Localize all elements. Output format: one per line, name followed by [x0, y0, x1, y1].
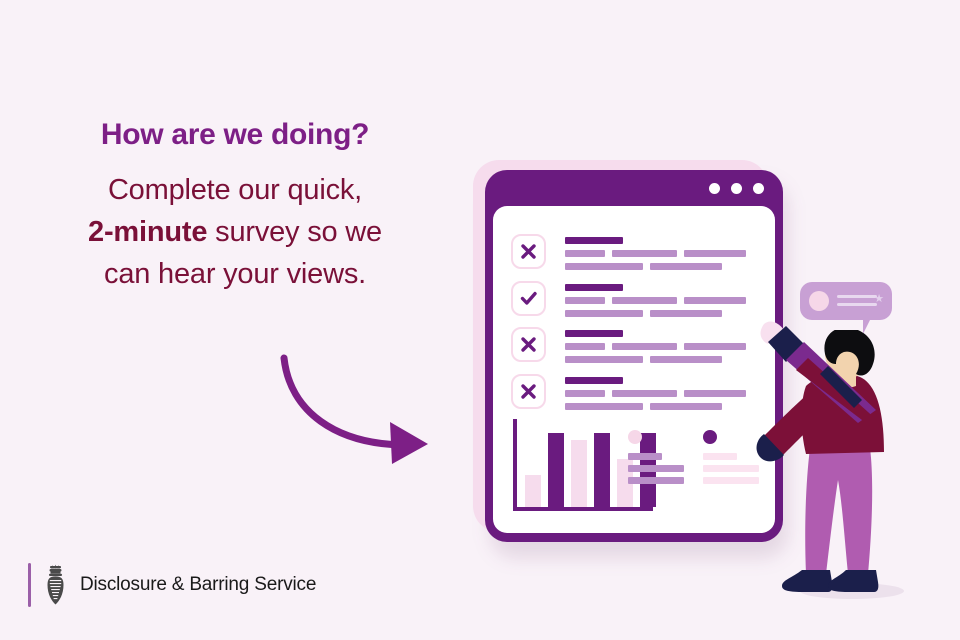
chart-legend-item [628, 430, 684, 489]
window-content [493, 206, 775, 533]
chart-y-axis [513, 419, 517, 507]
legend-dot-icon [628, 430, 642, 444]
brand-rule [28, 563, 31, 607]
legend-line [628, 477, 684, 484]
footer-branding: Disclosure & Barring Service [28, 563, 316, 607]
survey-checkbox-4[interactable] [511, 374, 546, 409]
subcopy-line-2: survey so we [207, 216, 382, 248]
speech-bubble-icon: ★ [800, 282, 892, 320]
avatar-circle-icon [809, 291, 829, 311]
survey-row[interactable] [511, 327, 767, 374]
survey-row-list [511, 234, 767, 420]
subcopy-emphasis: 2-minute [88, 216, 207, 248]
organisation-name: Disclosure & Barring Service [80, 574, 316, 596]
chart-x-axis [513, 507, 653, 511]
window-dot-1[interactable] [709, 183, 720, 194]
page-title: How are we doing? [0, 118, 470, 151]
promo-subcopy: Complete our quick, 2-minute survey so w… [0, 169, 470, 295]
chart-bar [594, 433, 610, 507]
survey-row-lines [565, 281, 767, 317]
bubble-line-2 [837, 303, 877, 306]
subcopy-line-3: can hear your views. [104, 258, 366, 290]
legend-dot-icon [703, 430, 717, 444]
chart-bar [525, 475, 541, 507]
survey-row-lines [565, 374, 767, 410]
curved-arrow-icon [262, 340, 452, 470]
bubble-line-1 [837, 295, 877, 298]
survey-checkbox-2[interactable] [511, 281, 546, 316]
legend-line [703, 453, 737, 460]
chart-bar [548, 433, 564, 507]
survey-checkbox-1[interactable] [511, 234, 546, 269]
chart-legend-item [703, 430, 759, 489]
promo-copy: How are we doing? Complete our quick, 2-… [0, 118, 470, 295]
window-dot-2[interactable] [731, 183, 742, 194]
star-icon: ★ [874, 294, 884, 305]
royal-crest-icon [42, 564, 69, 606]
survey-illustration: ★ [470, 160, 960, 610]
check-icon [519, 289, 538, 308]
survey-row-lines [565, 234, 767, 270]
cross-icon [519, 382, 538, 401]
survey-row[interactable] [511, 374, 767, 421]
survey-row[interactable] [511, 234, 767, 281]
legend-line [628, 465, 684, 472]
poster-canvas: How are we doing? Complete our quick, 2-… [0, 0, 960, 640]
chart-legend [628, 430, 759, 489]
cross-icon [519, 242, 538, 261]
cross-icon [519, 335, 538, 354]
survey-checkbox-3[interactable] [511, 327, 546, 362]
pen-icon [758, 318, 898, 423]
window-dot-3[interactable] [753, 183, 764, 194]
survey-row[interactable] [511, 281, 767, 328]
browser-window [485, 170, 783, 542]
subcopy-line-1: Complete our quick, [108, 174, 362, 206]
window-controls [709, 183, 764, 194]
legend-line [703, 465, 759, 472]
chart-bar [571, 440, 587, 507]
legend-line [703, 477, 759, 484]
survey-row-lines [565, 327, 767, 363]
window-titlebar [485, 170, 783, 210]
legend-line [628, 453, 662, 460]
